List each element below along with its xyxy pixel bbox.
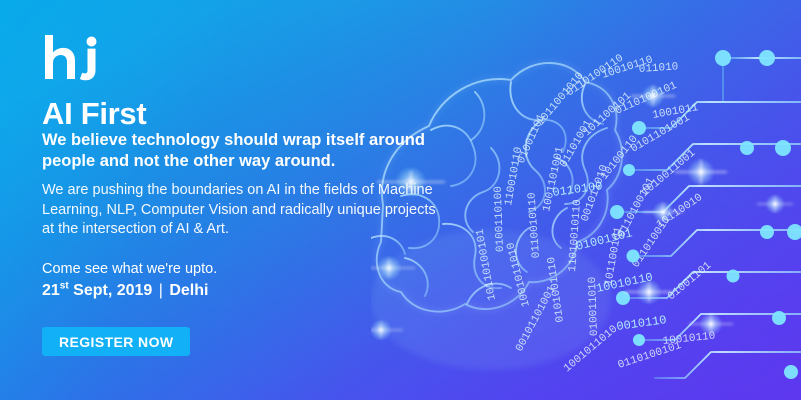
svg-text:0110100101: 0110100101 xyxy=(616,176,658,240)
svg-text:0110010110: 0110010110 xyxy=(526,192,543,259)
svg-text:11010010110: 11010010110 xyxy=(567,199,584,272)
register-now-button[interactable]: REGISTER NOW xyxy=(42,327,190,356)
event-day: 21 xyxy=(42,282,60,299)
svg-text:101100101: 101100101 xyxy=(603,226,625,287)
circuit-board-traces xyxy=(617,58,801,378)
svg-text:01101001: 01101001 xyxy=(558,118,595,170)
subheadline: We believe technology should wrap itself… xyxy=(42,130,437,172)
event-city: Delhi xyxy=(165,282,209,299)
svg-text:010011010: 010011010 xyxy=(587,276,601,336)
svg-text:1001011010: 1001011010 xyxy=(505,241,533,308)
binary-code-texture: 10110100101 0100110100 110010110 0100110… xyxy=(474,52,715,375)
ai-first-promo-banner: 10110100101 0100110100 110010110 0100110… xyxy=(0,0,801,400)
cta-prompt: Come see what we're upto. xyxy=(42,260,217,279)
svg-text:10010110: 10010110 xyxy=(601,54,655,82)
svg-text:011010: 011010 xyxy=(638,61,678,76)
binary-code-highlight: 01001101 10010110 0110100 0010110 xyxy=(552,179,668,334)
svg-text:0110100101: 0110100101 xyxy=(614,80,680,118)
svg-text:001011010: 001011010 xyxy=(579,163,611,223)
body-copy: We are pushing the boundaries on AI in t… xyxy=(42,181,442,240)
svg-text:0101001110: 0101001110 xyxy=(546,256,567,323)
svg-text:10010110: 10010110 xyxy=(662,331,716,348)
svg-text:10110100101: 10110100101 xyxy=(474,227,498,301)
svg-text:0101101001: 0101101001 xyxy=(629,112,693,156)
svg-text:0100110100: 0100110100 xyxy=(493,186,507,252)
event-day-suffix: st xyxy=(60,281,69,292)
svg-text:01001101: 01001101 xyxy=(516,112,549,165)
svg-text:01001101: 01001101 xyxy=(575,226,634,254)
svg-text:0010110: 0010110 xyxy=(616,313,668,334)
svg-text:101100101: 101100101 xyxy=(582,90,634,139)
svg-text:0110100110: 0110100110 xyxy=(565,52,626,99)
svg-text:0110100101: 0110100101 xyxy=(617,340,684,372)
banner-content: AI First We believe technology should wr… xyxy=(42,0,462,400)
svg-text:011010011: 011010011 xyxy=(630,214,673,270)
event-month-year: Sept, 2019 xyxy=(69,282,157,299)
page-title: AI First xyxy=(42,96,146,132)
svg-text:1001101001: 1001101001 xyxy=(541,145,567,212)
svg-text:1011001010: 1011001010 xyxy=(535,70,587,128)
svg-text:1001011: 1001011 xyxy=(652,102,700,122)
svg-text:10100110: 10100110 xyxy=(599,133,641,182)
svg-text:0110100: 0110100 xyxy=(552,179,604,200)
svg-text:01001101: 01001101 xyxy=(666,260,714,303)
svg-text:00101101001: 00101101001 xyxy=(514,284,559,354)
svg-text:1001011010: 1001011010 xyxy=(562,323,620,375)
svg-text:1010011001: 1010011001 xyxy=(640,147,699,199)
event-details: 21st Sept, 2019 | Delhi xyxy=(42,280,208,301)
svg-text:110010110: 110010110 xyxy=(503,146,525,207)
hi-logo xyxy=(42,33,102,85)
circuit-nodes xyxy=(610,50,801,379)
svg-text:10110010: 10110010 xyxy=(655,192,705,231)
svg-text:10010110: 10010110 xyxy=(595,270,654,296)
event-separator: | xyxy=(157,282,165,299)
